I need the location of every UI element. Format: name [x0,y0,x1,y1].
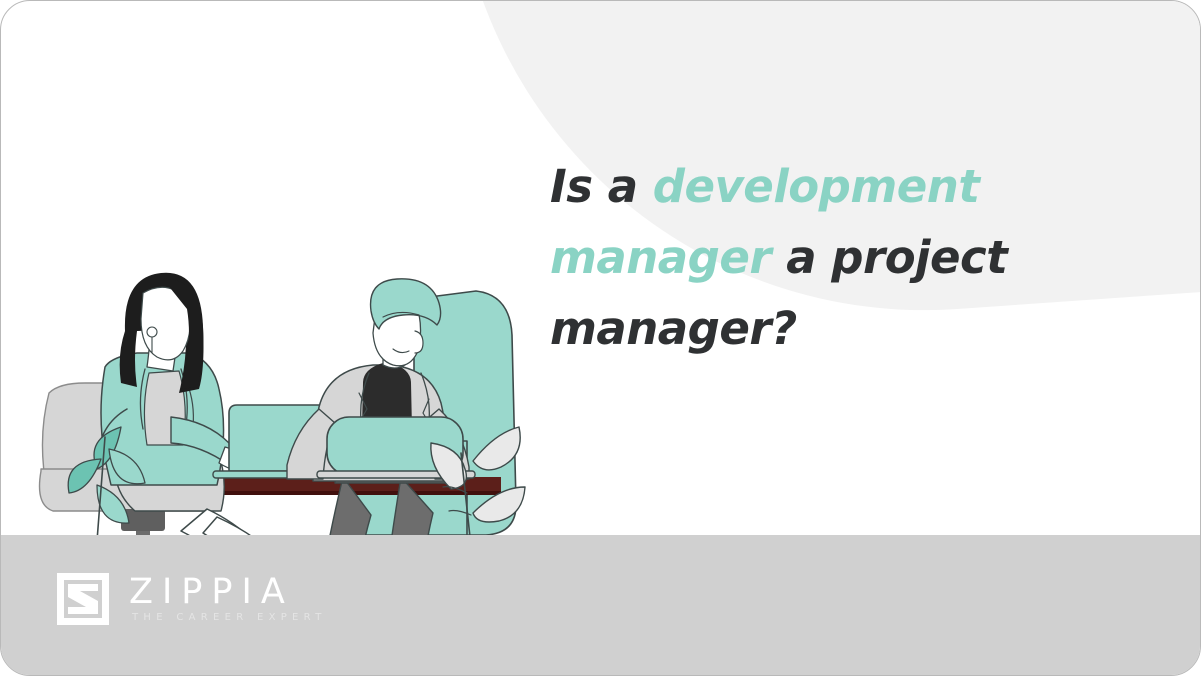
zippia-logo[interactable]: ZIPPIA THE CAREER EXPERT [55,571,327,627]
illustration-two-people-at-desk [21,141,541,561]
logo-text-group: ZIPPIA THE CAREER EXPERT [129,573,327,625]
logo-wordmark: ZIPPIA [129,573,327,611]
woman-earring [147,327,157,337]
promo-card: Is a development manager a project manag… [0,0,1201,676]
headline-part-1: Is a [550,160,653,213]
zippia-z-mark [55,571,111,627]
logo-tagline: THE CAREER EXPERT [129,611,327,625]
page-headline: Is a development manager a project manag… [550,151,1090,364]
